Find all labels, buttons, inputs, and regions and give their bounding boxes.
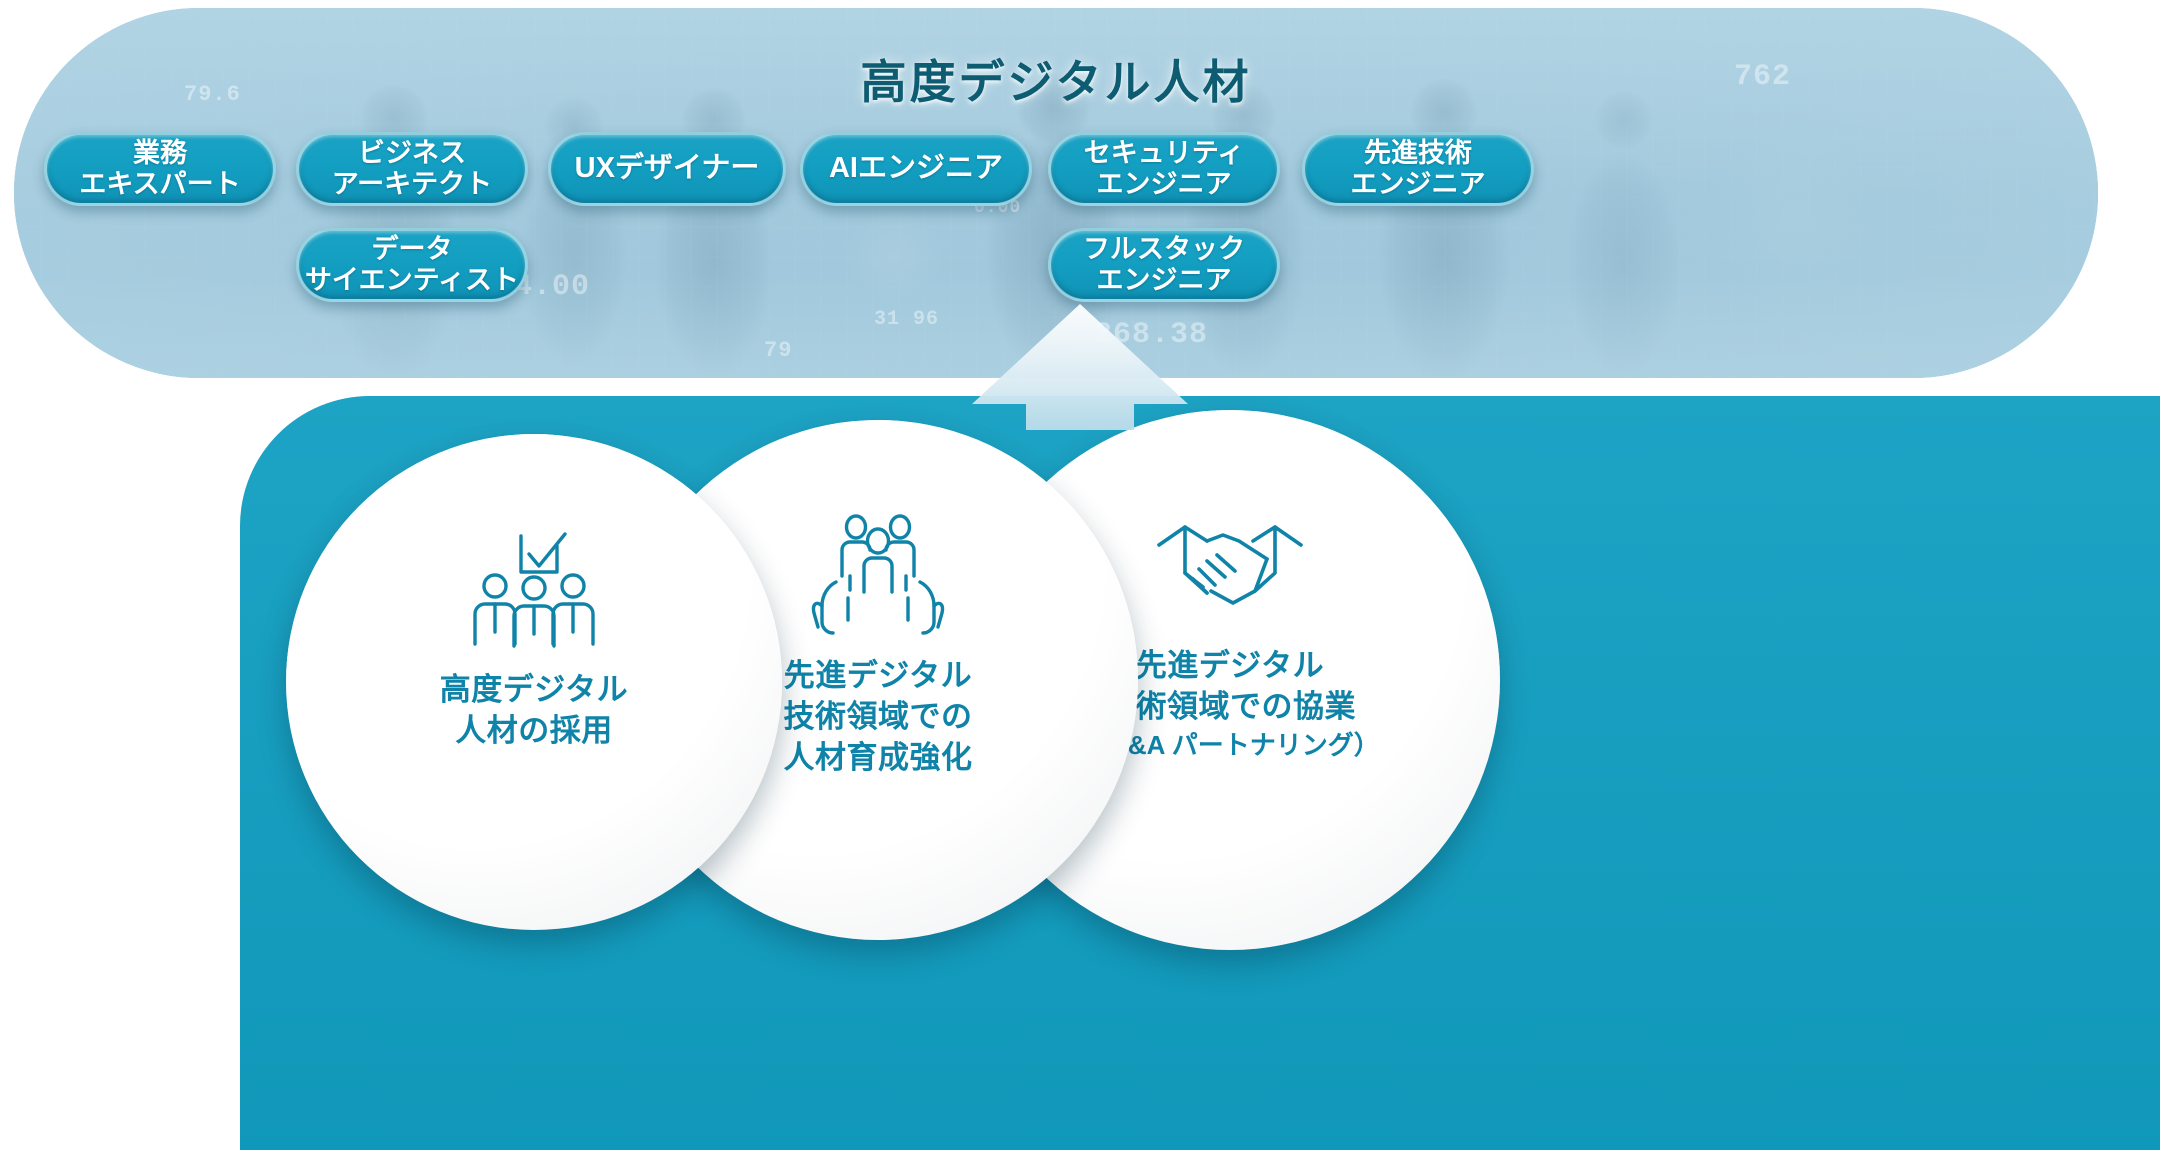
circle-label: 先進デジタル 技術領域での 人材育成強化 (784, 656, 973, 779)
hands-holding-people-icon (808, 512, 948, 642)
strategy-panel: 先進デジタル 技術領域での協業 （M&A パートナリング） (240, 396, 2160, 1150)
role-pill-line-1: 先進技術 (1364, 138, 1472, 169)
panel-title: 高度デジタル人材 (14, 46, 2098, 112)
handshake-icon (1155, 502, 1305, 632)
people-checklist-icon (459, 526, 609, 656)
circle-label-line-1: 先進デジタル (784, 656, 973, 697)
role-pill-line-2: エンジニア (1351, 169, 1486, 200)
role-pill-data-scientist[interactable]: データ サイエンティスト (296, 228, 528, 302)
role-pill-fullstack-engineer[interactable]: フルスタック エンジニア (1048, 228, 1280, 302)
role-pill-line-1: 業務 (133, 138, 187, 169)
role-pill-ux-designer[interactable]: UXデザイナー (548, 132, 786, 206)
role-pill-business-expert[interactable]: 業務 エキスパート (44, 132, 276, 206)
role-pill-line-1: UXデザイナー (575, 152, 760, 185)
circle-label-line-2: 技術領域での (784, 697, 973, 738)
role-pill-line-2: エンジニア (1097, 265, 1232, 296)
circle-label: 高度デジタル 人材の採用 (440, 670, 628, 752)
role-pill-business-architect[interactable]: ビジネス アーキテクト (296, 132, 528, 206)
up-arrow-icon (930, 300, 1230, 430)
role-pill-line-1: データ (372, 234, 453, 265)
circle-label-line-2: 人材の採用 (440, 711, 628, 752)
role-pill-line-1: AIエンジニア (829, 152, 1003, 185)
role-pill-line-1: ビジネス (358, 138, 466, 169)
diagram-canvas: 79.6 762 4.00 268.38 79 31 96 0.00 高度デジタ… (0, 0, 2160, 1150)
decor-number-4: 79 (764, 338, 792, 363)
role-pill-line-1: フルスタック (1083, 234, 1245, 265)
strategy-circle-hiring[interactable]: 高度デジタル 人材の採用 (286, 434, 782, 930)
circle-label-line-3: 人材育成強化 (784, 738, 973, 779)
role-pill-advanced-tech-engineer[interactable]: 先進技術 エンジニア (1302, 132, 1534, 206)
role-pill-line-1: セキュリティ (1084, 138, 1244, 169)
role-pill-ai-engineer[interactable]: AIエンジニア (800, 132, 1032, 206)
role-pill-line-2: アーキテクト (332, 169, 492, 200)
circle-label-line-1: 高度デジタル (440, 670, 628, 711)
role-pill-line-2: エキスパート (79, 169, 240, 200)
role-pill-security-engineer[interactable]: セキュリティ エンジニア (1048, 132, 1280, 206)
role-pill-line-2: エンジニア (1097, 169, 1232, 200)
role-pill-line-2: サイエンティスト (305, 265, 519, 296)
